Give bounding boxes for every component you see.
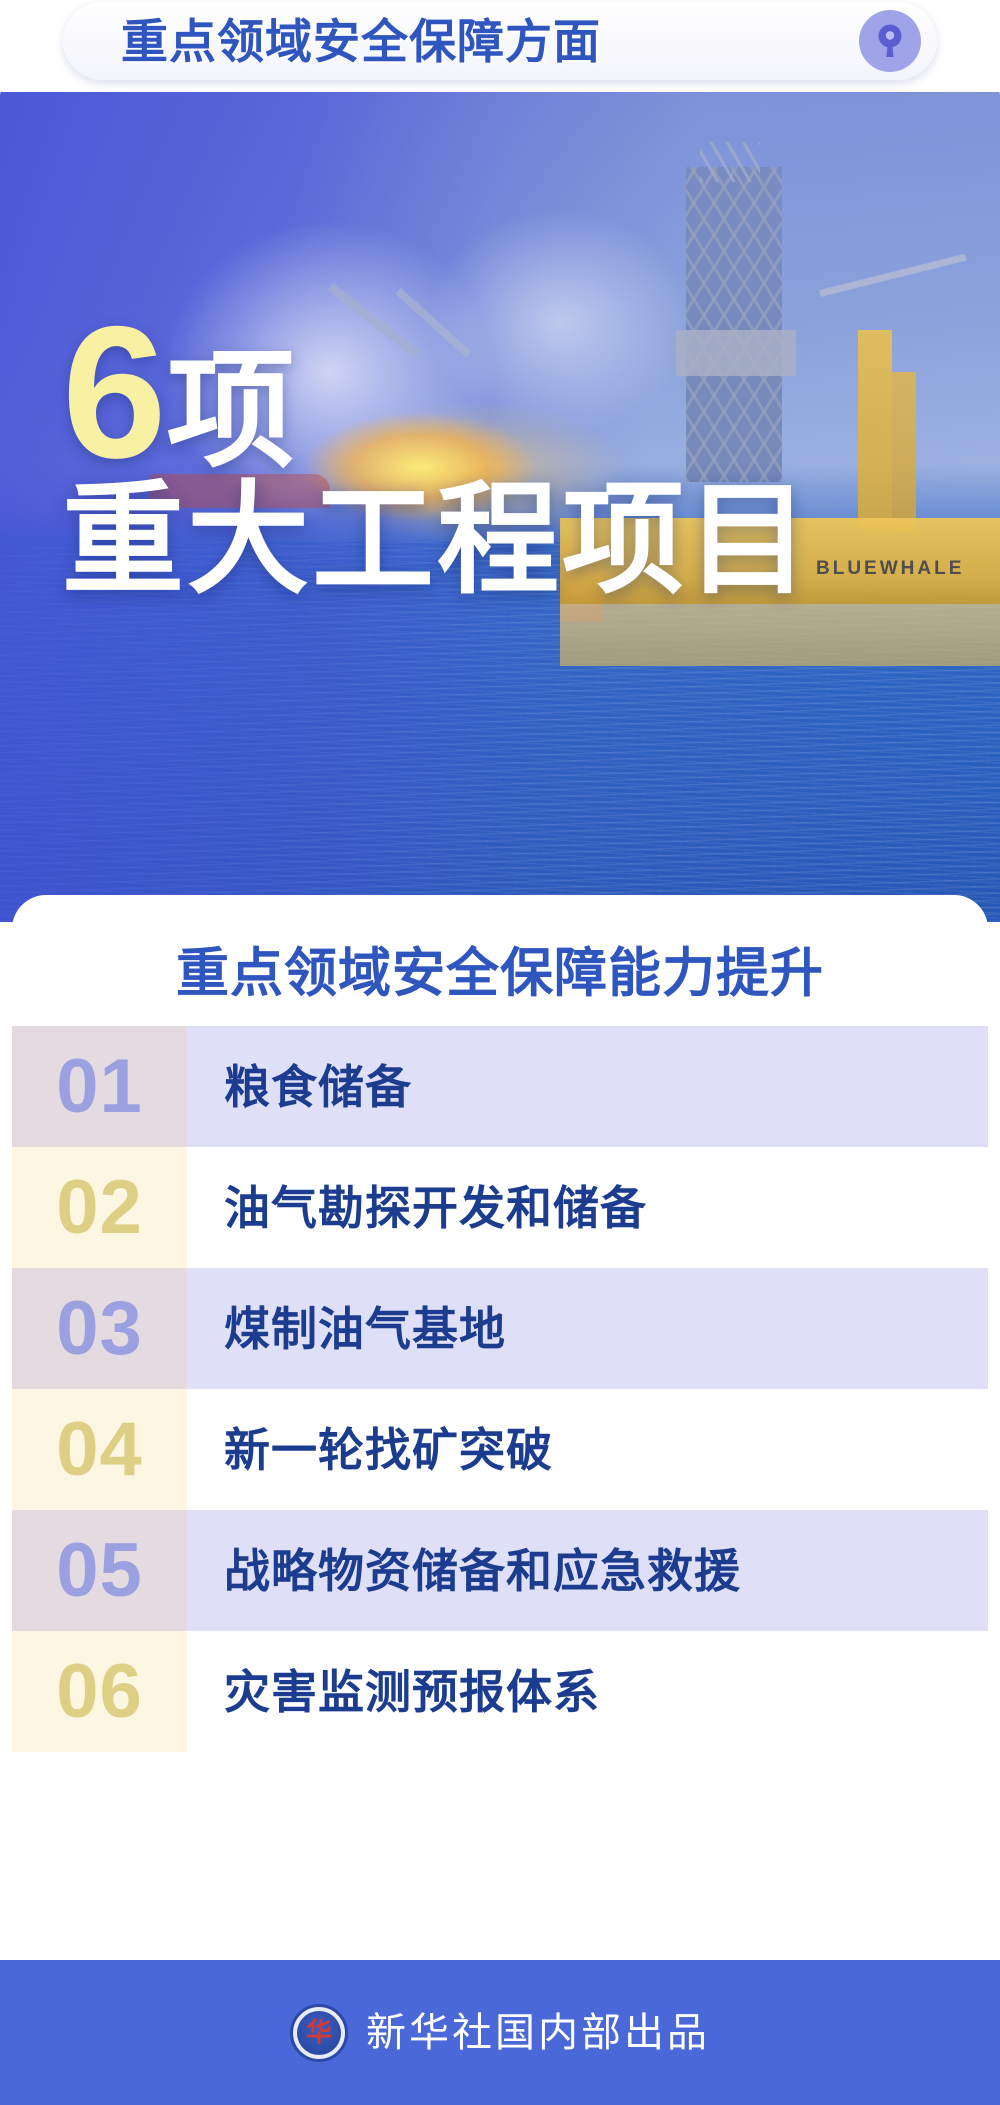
list-item[interactable]: 05 战略物资储备和应急救援 bbox=[12, 1510, 988, 1631]
list-item[interactable]: 04 新一轮找矿突破 bbox=[12, 1389, 988, 1510]
item-label: 油气勘探开发和储备 bbox=[187, 1185, 647, 1231]
hero-count: 6 bbox=[62, 304, 163, 481]
hero-headline-line2: 重大工程项目 bbox=[62, 475, 812, 607]
platform-hull bbox=[560, 604, 1000, 666]
item-label: 煤制油气基地 bbox=[187, 1306, 506, 1352]
item-number: 06 bbox=[12, 1631, 187, 1752]
magnifier-icon bbox=[859, 10, 921, 72]
list-item[interactable]: 02 油气勘探开发和储备 bbox=[12, 1147, 988, 1268]
yellow-crane bbox=[858, 330, 892, 530]
card-title: 重点领域安全保障能力提升 bbox=[12, 895, 988, 1026]
infographic-poster: BLUEWHALE 6 项 重大工程项目 重点领域安全保障方面 重点领域安全保障… bbox=[0, 0, 1000, 2105]
list-item[interactable]: 01 粮食储备 bbox=[12, 1026, 988, 1147]
item-number: 02 bbox=[12, 1147, 187, 1268]
item-label: 新一轮找矿突破 bbox=[187, 1427, 553, 1473]
list-item[interactable]: 06 灾害监测预报体系 bbox=[12, 1631, 988, 1752]
item-label: 粮食储备 bbox=[187, 1064, 412, 1110]
drilling-mast bbox=[700, 142, 760, 182]
xinhua-logo-glyph: 华 bbox=[306, 2020, 332, 2046]
footer-bar: 华 新华社国内部出品 bbox=[0, 1960, 1000, 2105]
items-card: 重点领域安全保障能力提升 01 粮食储备 02 油气勘探开发和储备 03 煤制油… bbox=[12, 895, 988, 1960]
hero-unit: 项 bbox=[167, 352, 295, 472]
vessel-name-label: BLUEWHALE bbox=[816, 558, 964, 580]
hero-headline-line1: 6 项 bbox=[62, 304, 812, 481]
xinhua-logo-icon: 华 bbox=[290, 2004, 348, 2062]
item-number: 04 bbox=[12, 1389, 187, 1510]
item-number: 05 bbox=[12, 1510, 187, 1631]
xinhua-logo-inner: 华 bbox=[297, 2011, 341, 2055]
footer-text: 新华社国内部出品 bbox=[366, 2013, 710, 2053]
hero-section: BLUEWHALE 6 项 重大工程项目 bbox=[0, 72, 1000, 922]
header-pill[interactable]: 重点领域安全保障方面 bbox=[63, 2, 937, 80]
item-number: 03 bbox=[12, 1268, 187, 1389]
items-list: 01 粮食储备 02 油气勘探开发和储备 03 煤制油气基地 04 新一轮找矿突… bbox=[12, 1026, 988, 1752]
header-title: 重点领域安全保障方面 bbox=[121, 18, 601, 65]
crane-arm bbox=[819, 254, 966, 297]
item-label: 战略物资储备和应急救援 bbox=[187, 1548, 741, 1594]
yellow-crane bbox=[892, 372, 916, 532]
item-label: 灾害监测预报体系 bbox=[187, 1669, 600, 1715]
item-number: 01 bbox=[12, 1026, 187, 1147]
list-item[interactable]: 03 煤制油气基地 bbox=[12, 1268, 988, 1389]
hero-headline: 6 项 重大工程项目 bbox=[62, 304, 812, 606]
